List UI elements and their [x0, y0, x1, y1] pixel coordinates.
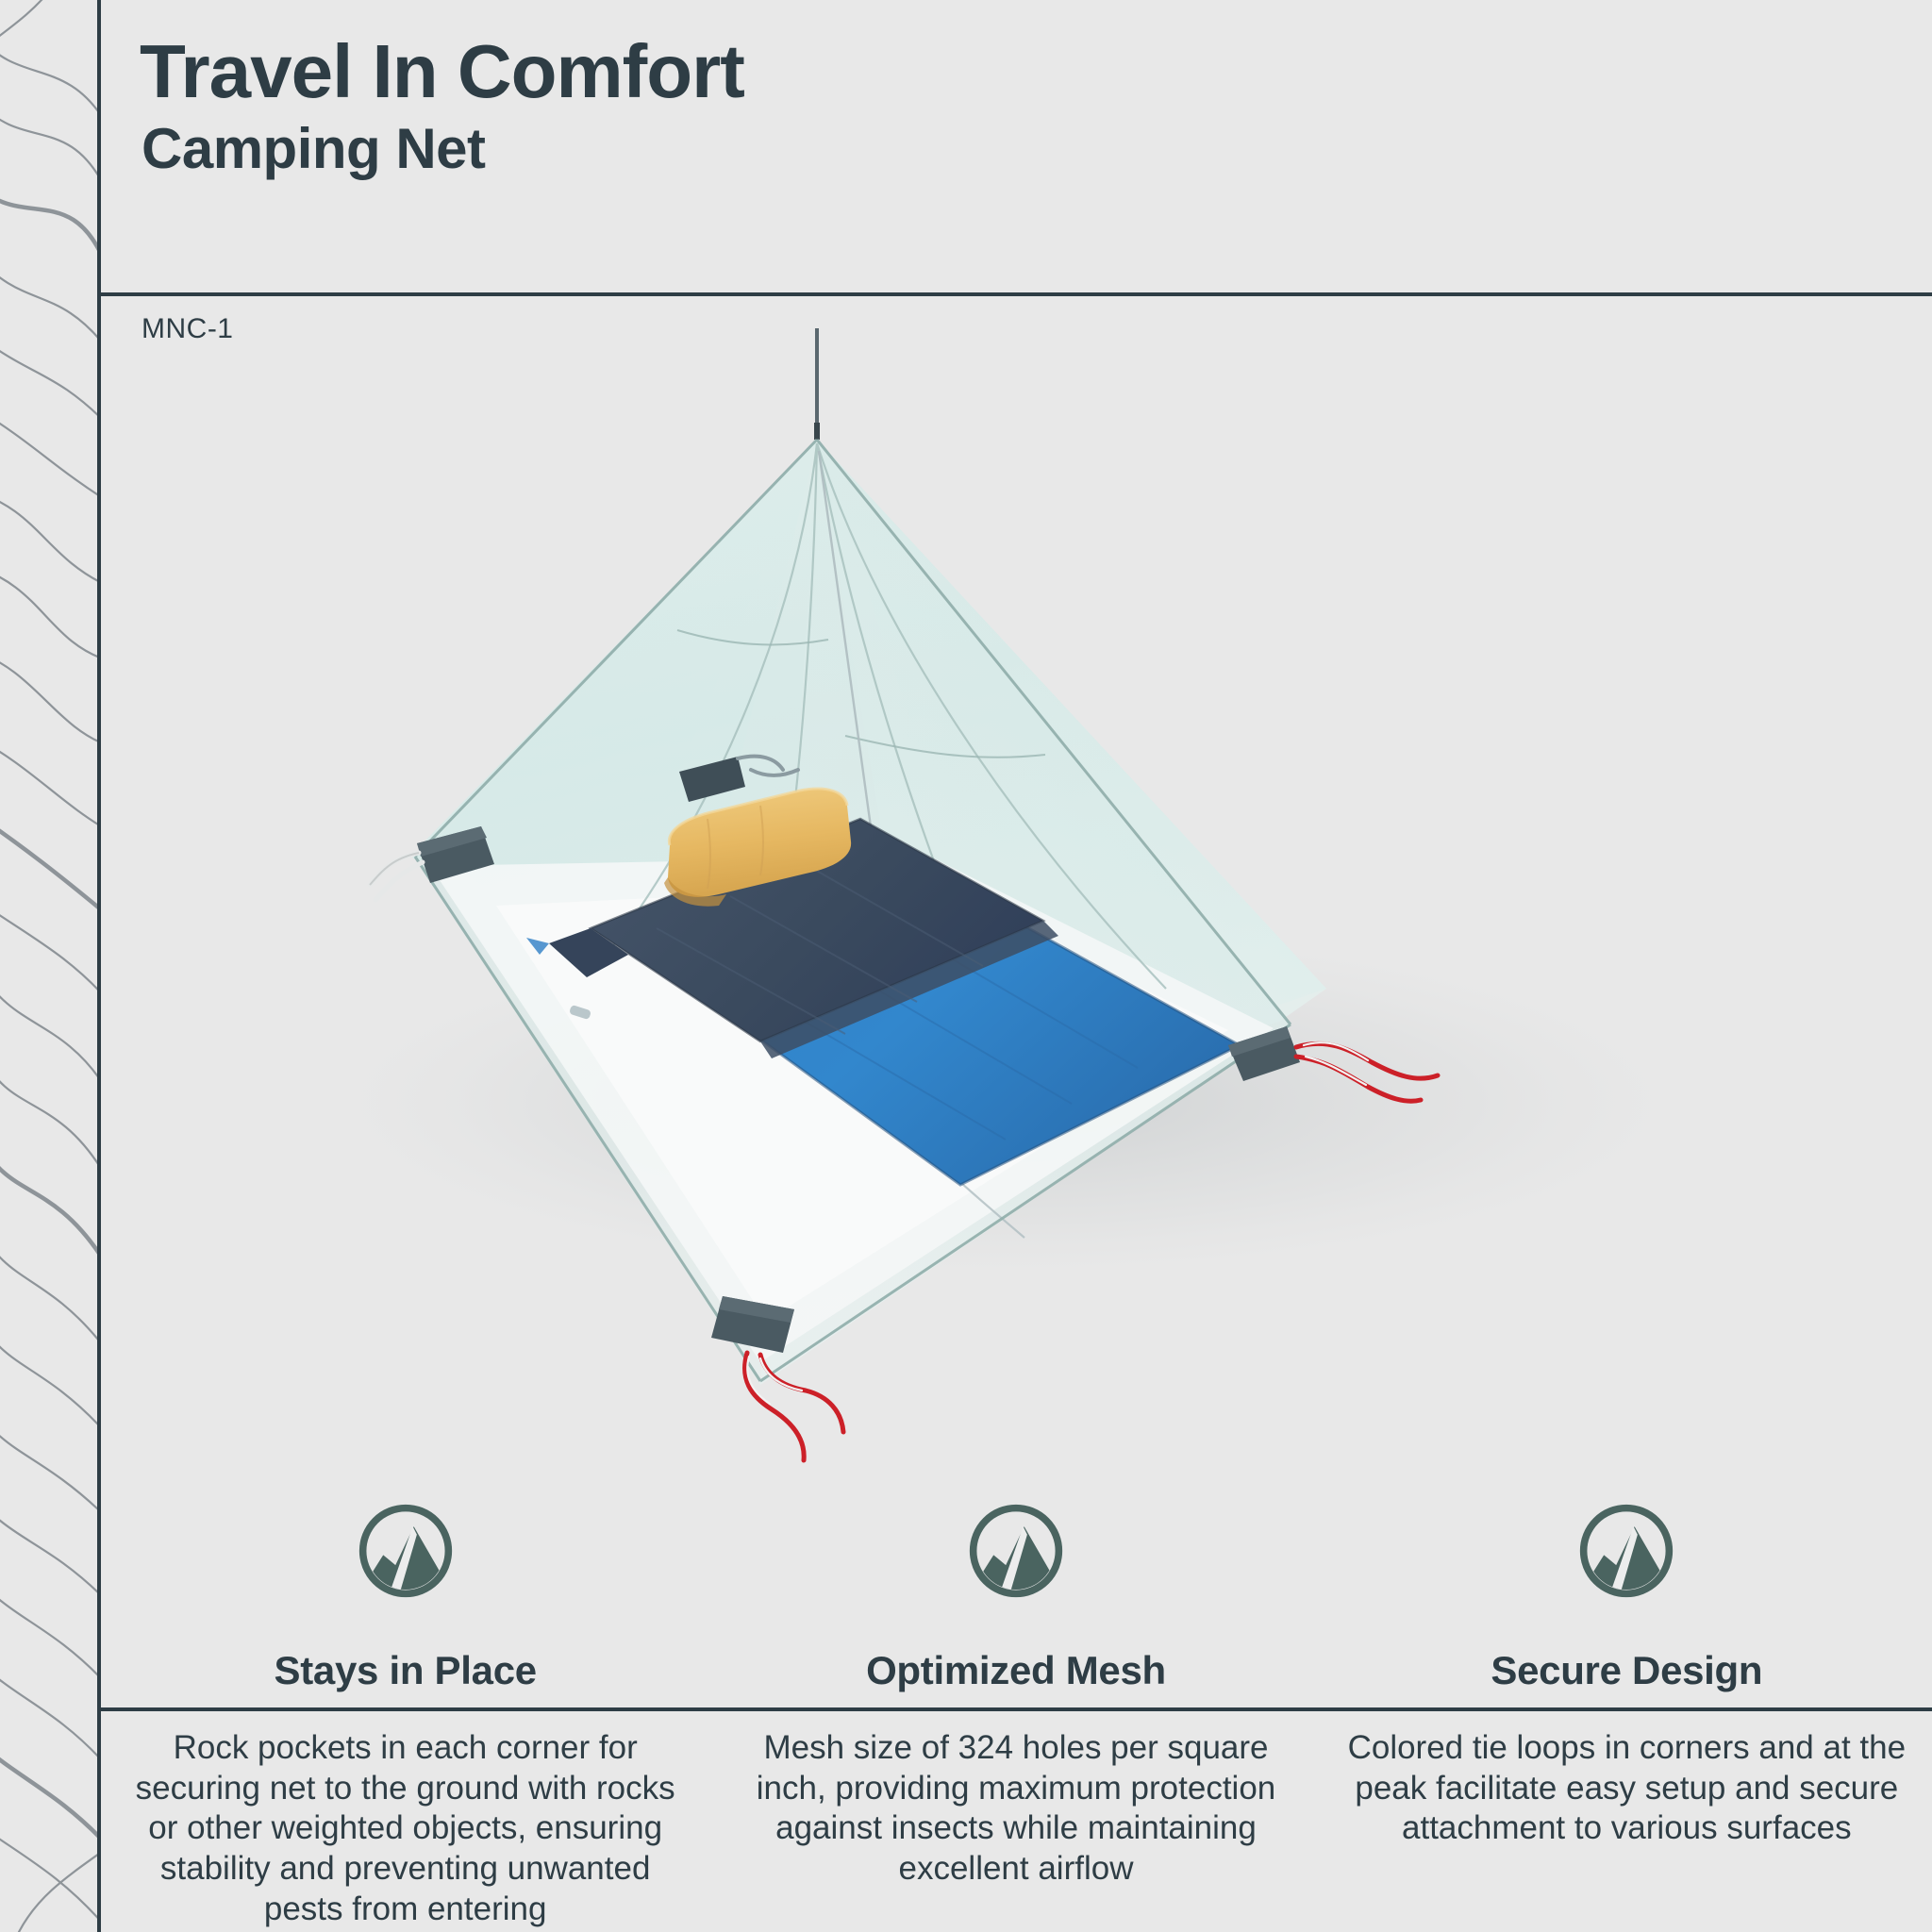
- feature-column-2: Optimized Mesh: [710, 1500, 1321, 1717]
- product-image: [100, 328, 1932, 1481]
- topographic-lines-icon: [0, 0, 100, 1932]
- feature-column-3: Secure Design: [1322, 1500, 1932, 1717]
- mountain-circle-icon: [965, 1500, 1067, 1602]
- feature-title: Optimized Mesh: [866, 1651, 1166, 1690]
- page-title: Travel In Comfort: [140, 34, 744, 109]
- header: Travel In Comfort Camping Net: [100, 0, 1932, 294]
- mountain-circle-icon: [1575, 1500, 1677, 1602]
- feature-description: Mesh size of 324 holes per square inch, …: [710, 1728, 1321, 1932]
- feature-description: Rock pockets in each corner for securing…: [100, 1728, 710, 1932]
- feature-row: Stays in Place Optimized Mesh Secure Des…: [100, 1500, 1932, 1717]
- feature-title: Secure Design: [1491, 1651, 1762, 1690]
- body-divider: [100, 1707, 1932, 1711]
- mountain-circle-icon: [355, 1500, 457, 1602]
- page-subtitle: Camping Net: [142, 121, 486, 177]
- header-divider: [100, 292, 1932, 296]
- feature-description: Colored tie loops in corners and at the …: [1322, 1728, 1932, 1932]
- feature-description-row: Rock pockets in each corner for securing…: [100, 1728, 1932, 1932]
- camping-net-illustration: [100, 328, 1932, 1481]
- topographic-decoration-strip: [0, 0, 100, 1932]
- feature-title: Stays in Place: [275, 1651, 537, 1690]
- feature-column-1: Stays in Place: [100, 1500, 710, 1717]
